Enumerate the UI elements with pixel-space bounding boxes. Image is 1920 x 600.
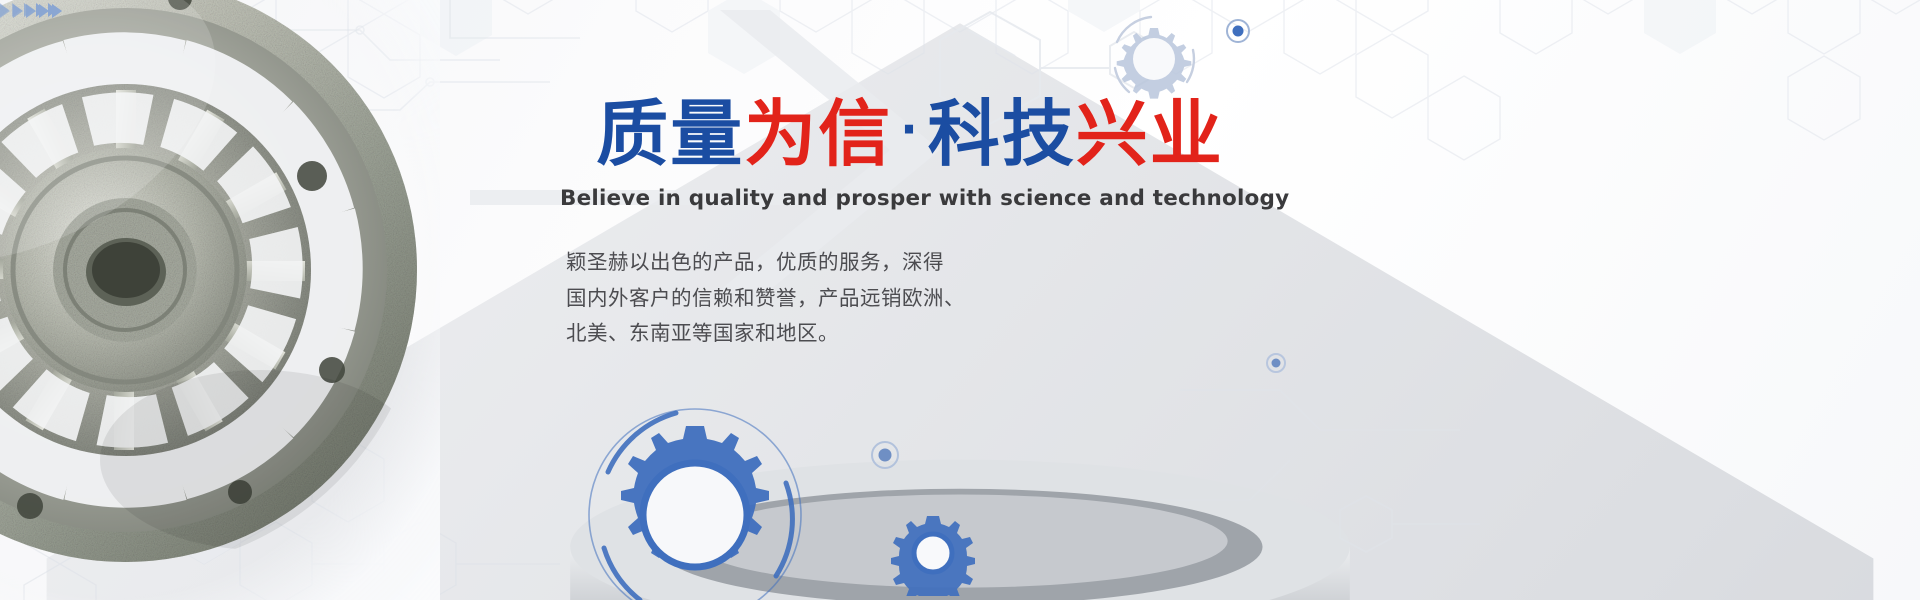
page-title: 质量为信·科技兴业 [560,96,1260,172]
headline-part-1: 质量 [596,92,744,176]
headline-part-4: 兴业 [1076,92,1224,176]
headline-separator-dot: · [892,102,927,156]
description-line-1: 颖圣赫以出色的产品，优质的服务，深得 [566,245,1260,280]
description-line-3: 北美、东南亚等国家和地区。 [566,316,1260,351]
hero-banner: 质量为信·科技兴业 Believe in quality and prosper… [0,0,1920,600]
banner-copy-block: 质量为信·科技兴业 Believe in quality and prosper… [560,96,1260,351]
subtitle-english: Believe in quality and prosper with scie… [560,186,1260,211]
metal-casting-wheel-photo [0,0,440,600]
description-line-2: 国内外客户的信赖和赞誉，产品远销欧洲、 [566,281,1260,316]
headline-part-2: 为信 [744,92,892,176]
banner-description: 颖圣赫以出色的产品，优质的服务，深得 国内外客户的信赖和赞誉，产品远销欧洲、 北… [566,245,1260,351]
headline-part-3: 科技 [928,92,1076,176]
